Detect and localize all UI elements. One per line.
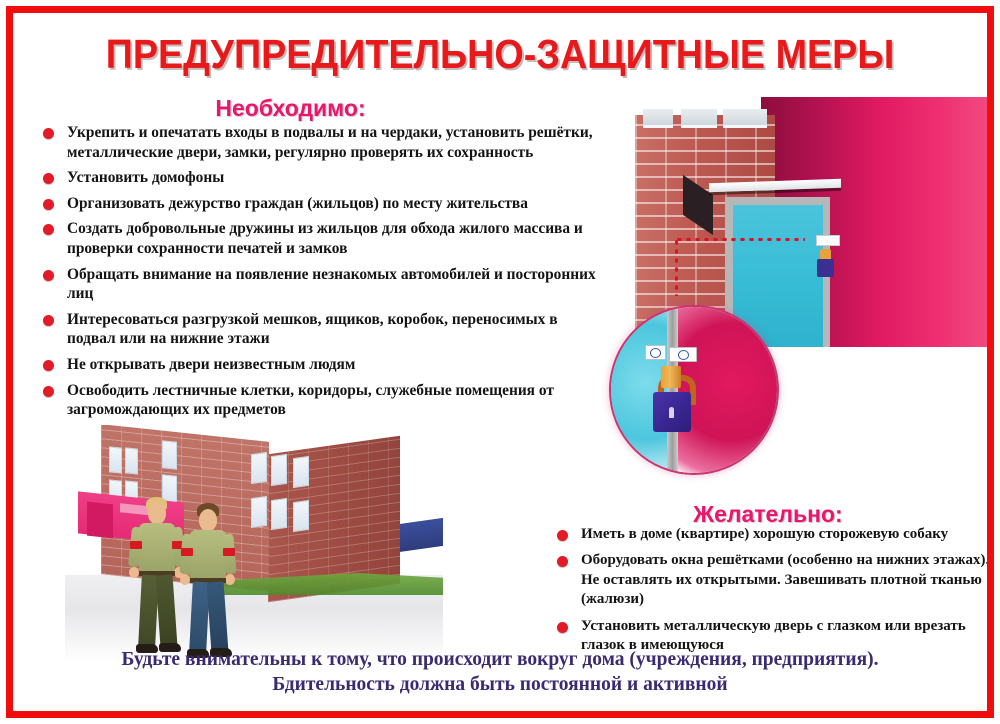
basement-window (643, 109, 673, 128)
list-item: Создать добровольные дружины из жильцов … (37, 219, 597, 258)
list-item-text: Оборудовать окна решётками (особенно на … (581, 551, 987, 609)
patrol-armband (130, 541, 142, 549)
keyhole-icon (669, 407, 674, 418)
list-item: Оборудовать окна решётками (особенно на … (551, 551, 987, 609)
list-item-text: Иметь в доме (квартире) хорошую сторожев… (581, 525, 987, 544)
list-item: Укрепить и опечатать входы в подвалы и н… (37, 123, 597, 162)
list-item-text: Установить домофоны (67, 168, 597, 188)
bullet-icon (43, 128, 54, 139)
window (293, 456, 309, 488)
padlock-top-icon (661, 366, 681, 388)
window (271, 498, 287, 530)
bullet-icon (43, 315, 54, 326)
pointer-dotted-line-vertical (675, 238, 678, 296)
window (271, 454, 287, 486)
torso-shirt (139, 523, 175, 573)
list-item-text: Обращать внимание на появление незнакомы… (67, 265, 597, 304)
list-item-text: Не открывать двери неизвестным людям (67, 355, 597, 375)
bullet-icon (43, 199, 54, 210)
bullet-icon (557, 530, 568, 541)
list-item: Освободить лестничные клетки, коридоры, … (37, 381, 597, 420)
poster-frame: ПРЕДУПРЕДИТЕЛЬНО-ЗАЩИТНЫЕ МЕРЫ Необходим… (6, 6, 994, 718)
list-item-text: Освободить лестничные клетки, коридоры, … (67, 381, 597, 420)
necessary-list: Укрепить и опечатать входы в подвалы и н… (37, 123, 597, 426)
illustration-magnifier (609, 305, 779, 475)
poster-content: ПРЕДУПРЕДИТЕЛЬНО-ЗАЩИТНЫЕ МЕРЫ Необходим… (13, 13, 987, 711)
bullet-icon (43, 270, 54, 281)
list-item-text: Укрепить и опечатать входы в подвалы и н… (67, 123, 597, 162)
bullet-icon (43, 173, 54, 184)
desirable-list: Иметь в доме (квартире) хорошую сторожев… (551, 525, 987, 662)
list-item-text: Организовать дежурство граждан (жильцов)… (67, 194, 597, 214)
bullet-icon (557, 556, 568, 567)
hand-left (129, 567, 139, 578)
window (125, 447, 138, 474)
bullet-icon (43, 360, 54, 371)
bullet-icon (557, 622, 568, 633)
leg-right (207, 581, 229, 652)
list-item: Не открывать двери неизвестным людям (37, 355, 597, 375)
window (251, 452, 267, 484)
list-item: Установить домофоны (37, 168, 597, 188)
window (109, 446, 122, 473)
entrance-door (87, 502, 113, 539)
basement-window (681, 109, 717, 128)
window (251, 496, 267, 528)
padlock-icon (817, 259, 834, 277)
patrol-armband (223, 548, 235, 556)
paper-seal-sticker (669, 347, 697, 362)
poster-root: ПРЕДУПРЕДИТЕЛЬНО-ЗАЩИТНЫЕ МЕРЫ Необходим… (0, 0, 1000, 724)
list-item: Интересоваться разгрузкой мешков, ящиков… (37, 310, 597, 349)
footer-message: Будьте внимательны к тому, что происходи… (13, 647, 987, 697)
paper-seal-sticker (645, 345, 666, 360)
window (162, 440, 177, 470)
section-heading-desirable: Желательно: (558, 501, 978, 528)
basement-window (723, 109, 767, 128)
list-item: Организовать дежурство граждан (жильцов)… (37, 194, 597, 214)
leg-right (156, 574, 178, 647)
list-item-text: Интересоваться разгрузкой мешков, ящиков… (67, 310, 597, 349)
bullet-icon (43, 386, 54, 397)
hand-left (180, 574, 190, 585)
list-item: Иметь в доме (квартире) хорошую сторожев… (551, 525, 987, 544)
seal-stamp-icon (650, 348, 661, 358)
footer-line-1: Будьте внимательны к тому, что происходи… (13, 647, 987, 672)
footer-line-2: Бдительность должна быть постоянной и ак… (13, 672, 987, 697)
bullet-icon (43, 224, 54, 235)
section-heading-necessary: Необходимо: (13, 95, 568, 122)
patrol-volunteer-2 (179, 503, 241, 661)
page-title: ПРЕДУПРЕДИТЕЛЬНО-ЗАЩИТНЫЕ МЕРЫ (52, 31, 948, 78)
hand-right (225, 574, 235, 585)
head (199, 509, 217, 531)
patrol-armband (181, 548, 193, 556)
torso-shirt (190, 530, 226, 580)
head (148, 502, 166, 524)
illustration-building-photo (65, 425, 443, 661)
list-item-text: Создать добровольные дружины из жильцов … (67, 219, 597, 258)
pointer-dotted-line (675, 238, 805, 241)
window (293, 500, 309, 532)
list-item: Обращать внимание на появление незнакомы… (37, 265, 597, 304)
seal-stamp-icon (678, 350, 689, 360)
paper-seal-sticker (816, 235, 840, 246)
